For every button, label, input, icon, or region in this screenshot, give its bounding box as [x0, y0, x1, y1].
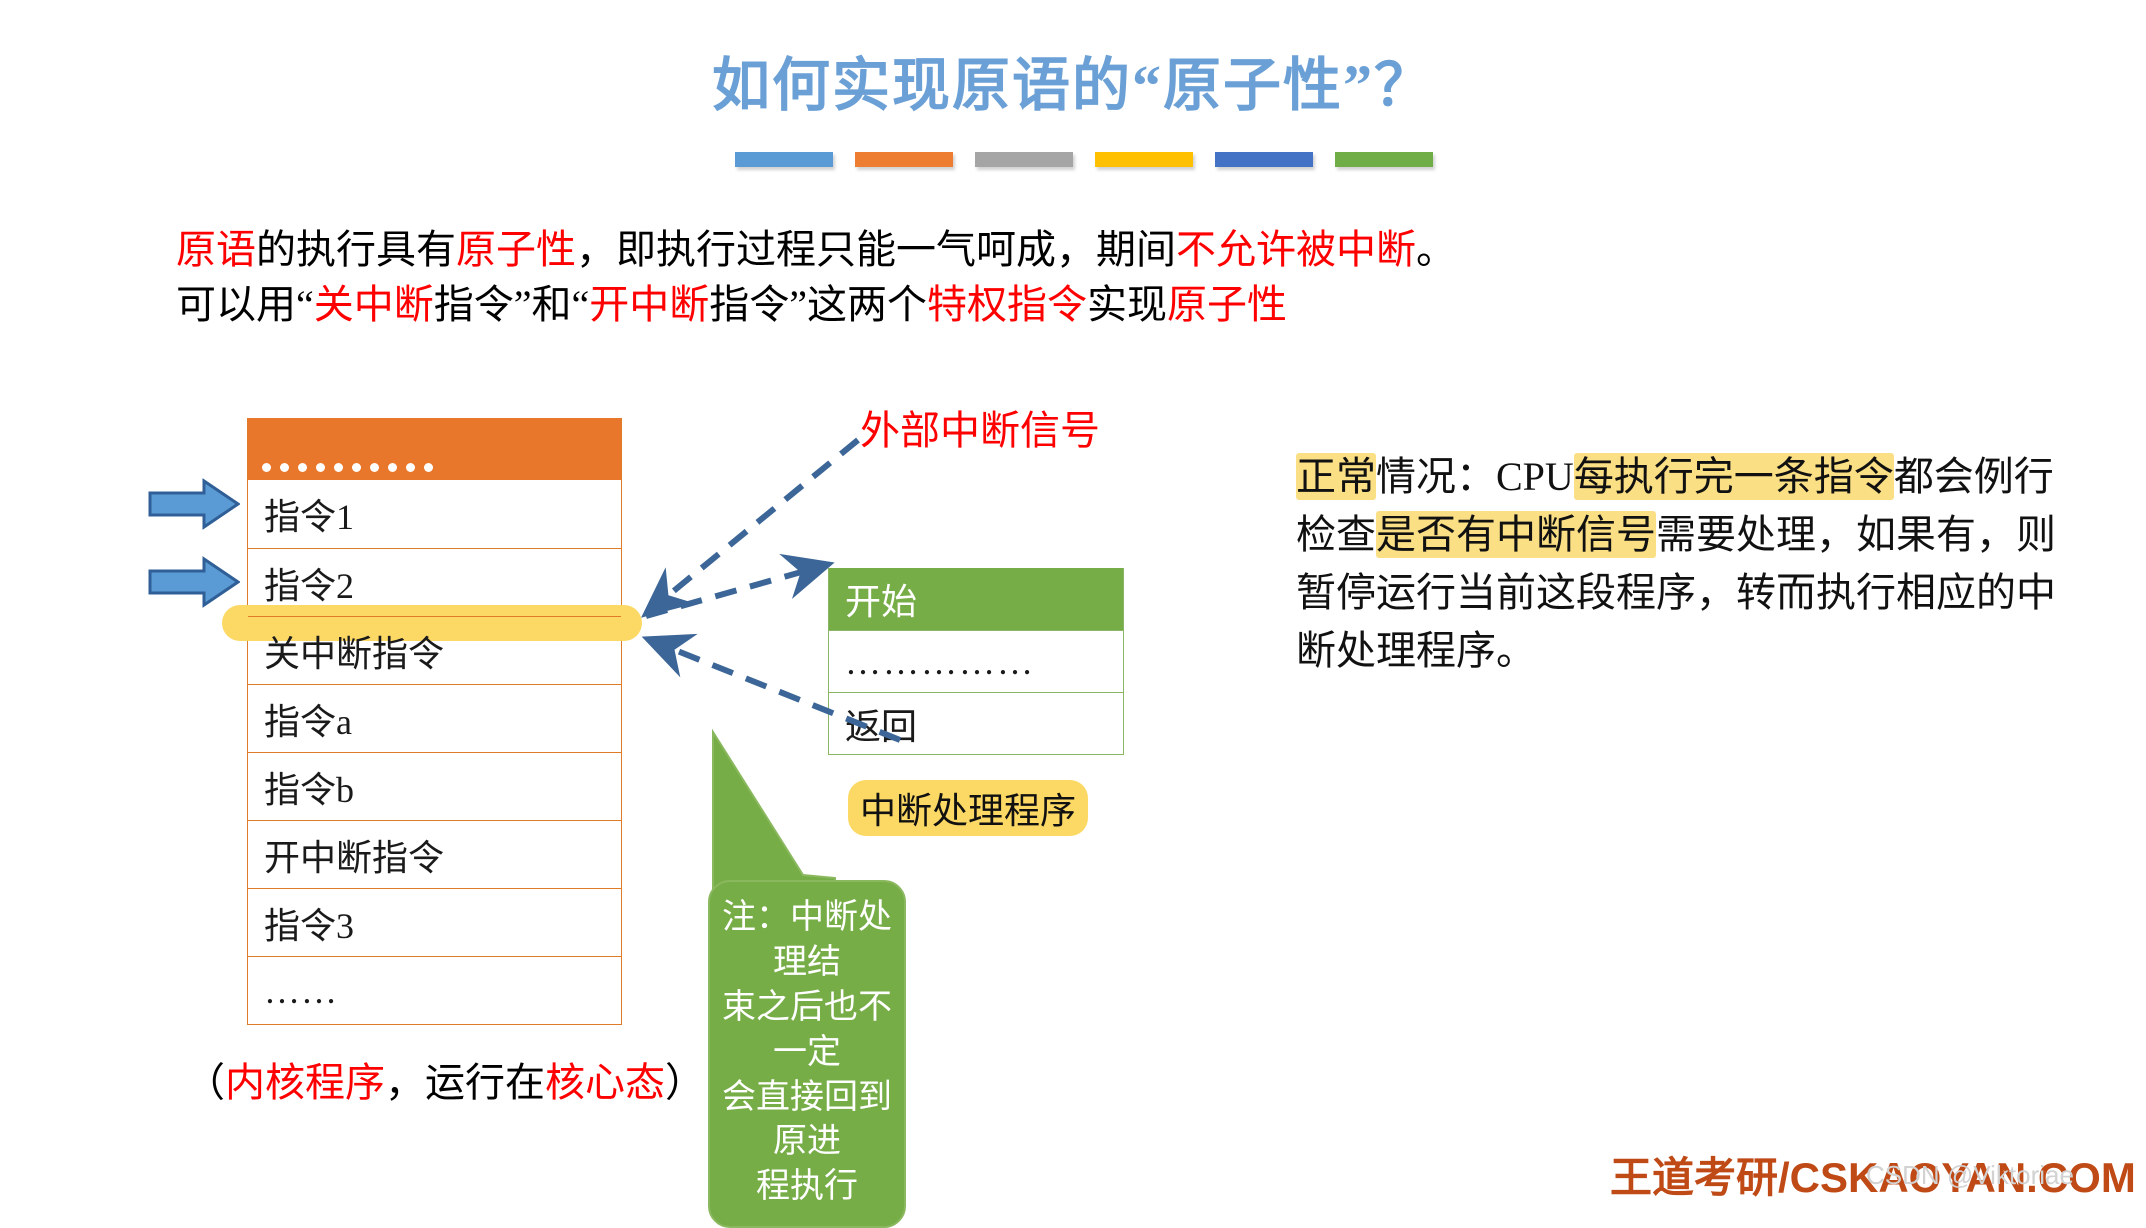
instruction-row: 关中断指令	[248, 616, 621, 684]
dashed-arrow-instruction-to-handler	[646, 565, 826, 616]
accent-bar-group	[735, 152, 1433, 167]
bar-green	[1335, 152, 1433, 167]
handler-table-header: 开始	[829, 568, 1123, 630]
note-callout-line: 注：中断处理结	[720, 896, 894, 986]
instruction-table-caption: （内核程序，运行在核心态）	[185, 1050, 705, 1108]
text-run: ）	[665, 1060, 705, 1105]
text-run: 特权指令	[927, 282, 1087, 327]
text-run: 核心态	[545, 1060, 665, 1105]
instruction-table: 指令1指令2关中断指令指令a指令b开中断指令指令3……	[247, 418, 622, 1025]
text-run: 。	[1416, 227, 1456, 272]
instruction-row: 指令2	[248, 548, 621, 616]
note-callout-line: 束之后也不一定	[720, 986, 894, 1076]
text-run: 原语	[176, 227, 256, 272]
slide-canvas: 如何实现原语的“原子性”？ 原语的执行具有原子性，即执行过程只能一气呵成，期间不…	[0, 0, 2146, 1196]
page-title: 如何实现原语的“原子性”？	[0, 38, 2146, 122]
text-run: 开中断	[589, 282, 709, 327]
instruction-row: 指令3	[248, 888, 621, 956]
text-run: ，即执行过程只能一气呵成，期间	[576, 227, 1176, 272]
bar-blue	[735, 152, 833, 167]
callout-tail-icon	[707, 720, 907, 895]
text-run: 指令”和“	[434, 282, 590, 327]
text-run: 实现	[1087, 282, 1167, 327]
text-run: 原子性	[456, 227, 576, 272]
dashed-arrow-signal-to-instruction	[648, 440, 858, 612]
block-arrow-right-icon-2	[148, 556, 240, 608]
bar-gray	[975, 152, 1073, 167]
instruction-row: ……	[248, 956, 621, 1024]
note-callout-line: 会直接回到原进	[720, 1076, 894, 1166]
note-callout-body: 注：中断处理结束之后也不一定会直接回到原进程执行	[708, 880, 906, 1228]
text-run: 情况：CPU	[1376, 454, 1574, 499]
text-run: ，运行在	[385, 1060, 545, 1105]
text-run: 可以用“	[176, 282, 314, 327]
note-callout-line: 程执行	[720, 1165, 894, 1210]
text-run: 内核程序	[225, 1060, 385, 1105]
bar-yellow	[1095, 152, 1193, 167]
bar-orange	[855, 152, 953, 167]
instruction-row: 指令1	[248, 480, 621, 548]
text-run: 是否有中断信号	[1376, 511, 1656, 558]
text-run: 每执行完一条指令	[1574, 453, 1894, 500]
instruction-row: 开中断指令	[248, 820, 621, 888]
ellipsis-dots-icon	[262, 463, 433, 472]
intro-paragraph: 原语的执行具有原子性，即执行过程只能一气呵成，期间不允许被中断。 可以用“关中断…	[176, 222, 1676, 332]
text-run: 不允许被中断	[1176, 227, 1416, 272]
text-run: 指令”这两个	[709, 282, 927, 327]
text-run: 关中断	[314, 282, 434, 327]
external-signal-label: 外部中断信号	[860, 398, 1100, 456]
explanation-paragraph: 正常情况：CPU每执行完一条指令都会例行检查是否有中断信号需要处理，如果有，则暂…	[1296, 448, 2056, 680]
instruction-table-header	[248, 418, 621, 480]
text-run: 的执行具有	[256, 227, 456, 272]
bar-navy	[1215, 152, 1313, 167]
watermark: CSDN @Viktoriae	[1866, 1160, 2074, 1191]
instruction-row: 指令b	[248, 752, 621, 820]
instruction-row: 指令a	[248, 684, 621, 752]
handler-row: ……………	[829, 630, 1123, 692]
text-run: （	[185, 1060, 225, 1105]
text-run: 正常	[1296, 453, 1376, 500]
block-arrow-right-icon-1	[148, 478, 240, 530]
intro-line-1: 原语的执行具有原子性，即执行过程只能一气呵成，期间不允许被中断。	[176, 222, 1676, 277]
text-run: 原子性	[1167, 282, 1287, 327]
intro-line-2: 可以用“关中断指令”和“开中断指令”这两个特权指令实现原子性	[176, 277, 1676, 332]
